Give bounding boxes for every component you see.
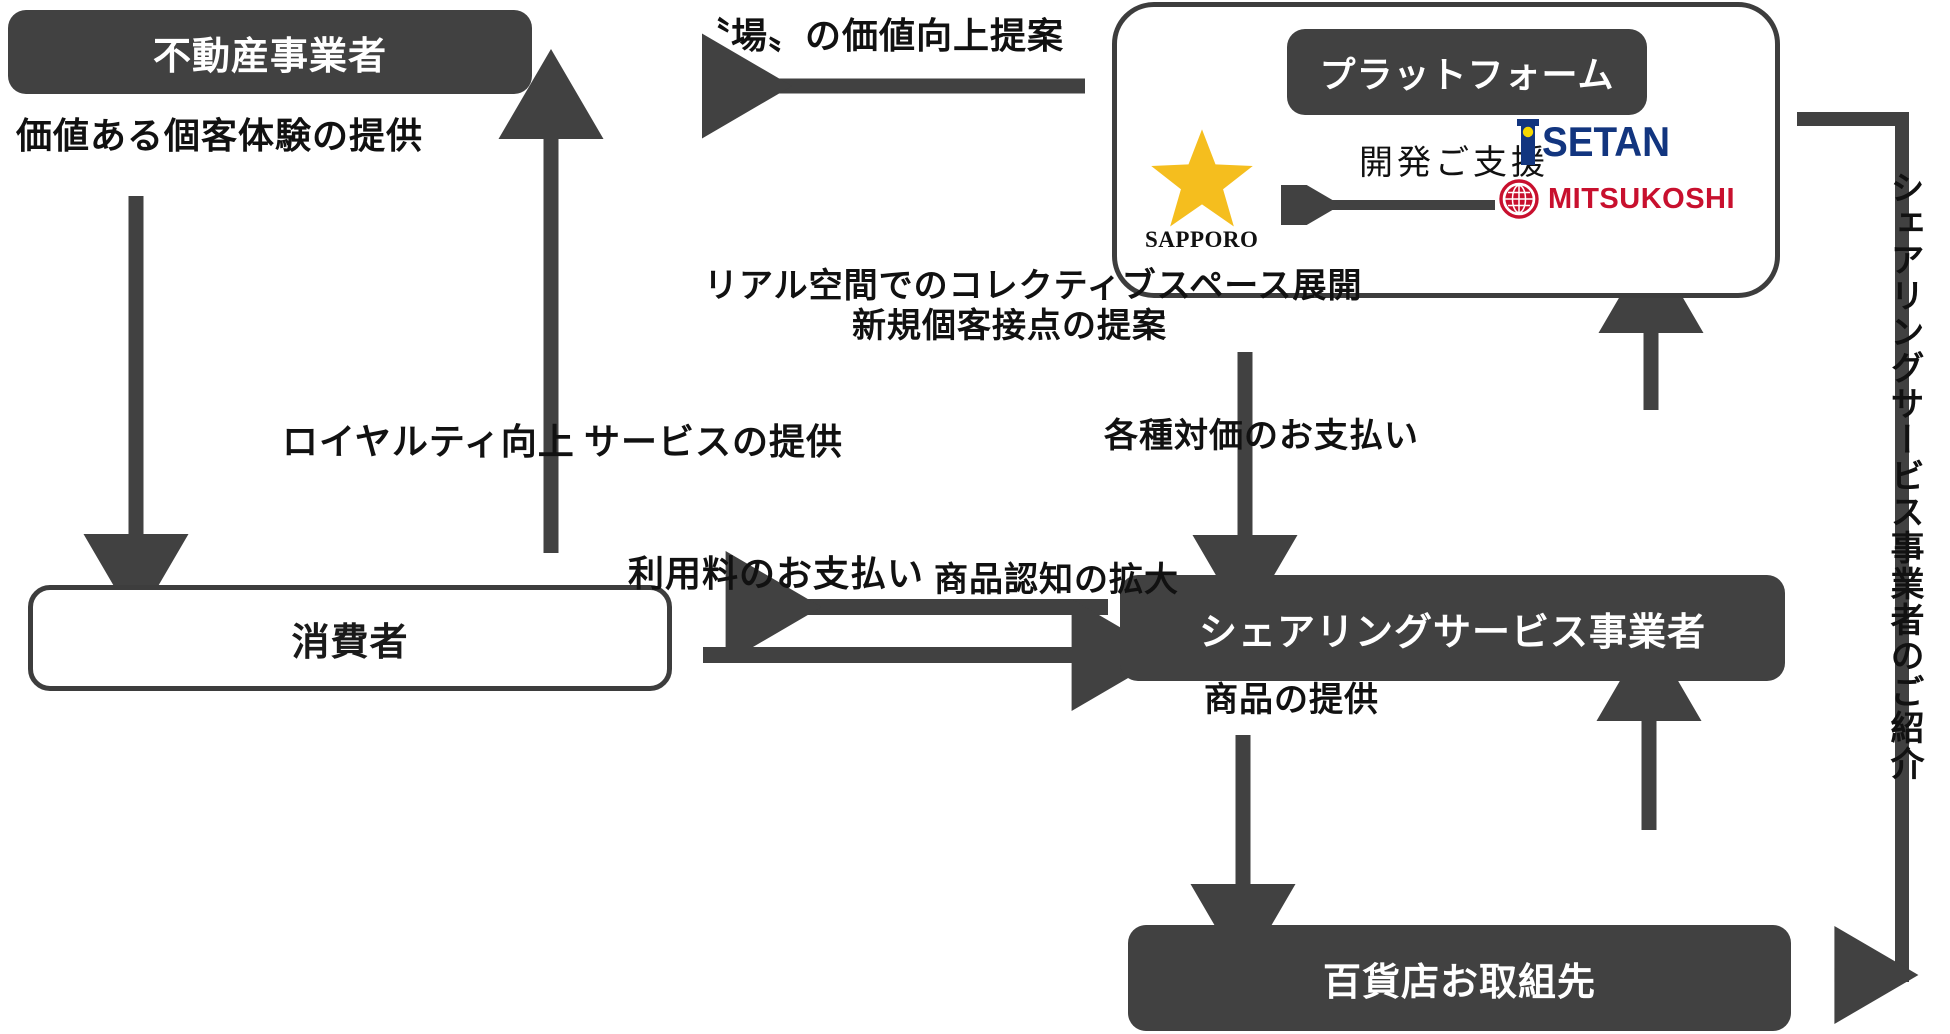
node-department-store-partner-label: 百貨店お取組先 (1323, 951, 1596, 1006)
label-loyalty-improvement: ロイヤルティ向上 (282, 420, 575, 464)
node-sharing-service-operator-label: シェアリングサービス事業者 (1199, 601, 1706, 656)
node-real-estate-operator[interactable]: 不動産事業者 (8, 10, 532, 94)
label-various-payments: 各種対価のお支払い (1104, 416, 1419, 457)
isetan-logo-icon (1515, 119, 1541, 165)
mitsukoshi-logo: MITSUKOSHI (1499, 179, 1735, 219)
node-consumer-label: 消費者 (291, 611, 408, 666)
sapporo-wordmark: SAPPORO (1145, 227, 1258, 253)
star-icon (1148, 127, 1256, 231)
label-service-provision: サービスの提供 (584, 420, 843, 464)
node-platform[interactable]: プラットフォーム (1287, 29, 1647, 115)
label-collective-space-line2: 新規個客接点の提案 (852, 306, 1167, 347)
node-real-estate-operator-label: 不動産事業者 (153, 25, 387, 80)
isetan-logo: SETAN (1515, 119, 1681, 165)
node-consumer[interactable]: 消費者 (28, 585, 672, 691)
label-customer-experience: 価値ある個客体験の提供 (16, 114, 423, 158)
sapporo-logo: SAPPORO (1145, 127, 1258, 253)
isetan-wordmark: SETAN (1542, 121, 1670, 163)
label-product-awareness: 商品認知の拡大 (934, 560, 1179, 601)
mitsukoshi-wordmark: MITSUKOSHI (1548, 185, 1735, 214)
label-usage-fee-payment: 利用料のお支払い (628, 552, 924, 596)
label-product-provision: 商品の提供 (1204, 680, 1379, 721)
node-platform-label: プラットフォーム (1320, 46, 1615, 98)
label-sharing-service-introduction: シェアリングサービス事業者のご紹介 (1880, 170, 1929, 782)
node-sharing-service-operator[interactable]: シェアリングサービス事業者 (1120, 575, 1785, 681)
arrow-retailers-to-sapporo (1267, 185, 1507, 225)
diagram-canvas: 不動産事業者 プラットフォーム SAPPORO 開発ご支援 SETAN (0, 0, 1950, 1034)
label-place-value-proposal: 〝場〟の価値向上提案 (694, 14, 1064, 58)
label-collective-space-line1: リアル空間でのコレクティブスペース展開 (704, 266, 1363, 307)
platform-container: プラットフォーム SAPPORO 開発ご支援 SETAN (1112, 2, 1780, 298)
node-department-store-partner[interactable]: 百貨店お取組先 (1128, 925, 1791, 1031)
